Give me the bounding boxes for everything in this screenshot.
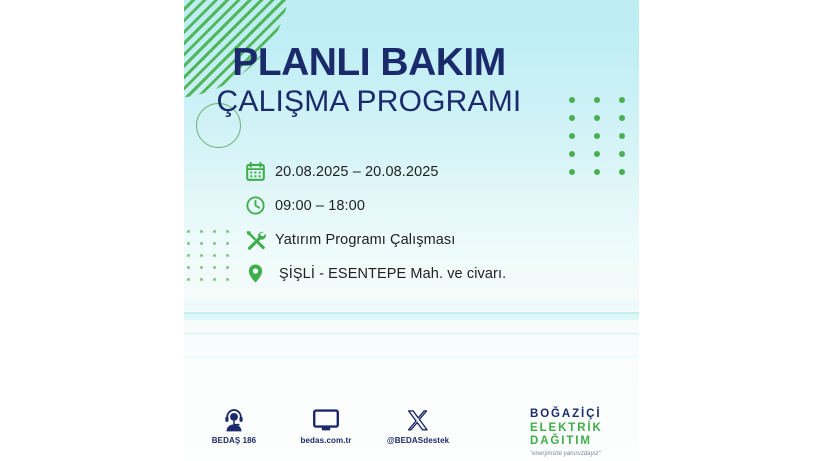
logo-line-bogazici: BOĞAZİÇİ (530, 408, 639, 422)
screenshot-canvas: PLANLI BAKIM ÇALIŞMA PROGRAMI (0, 0, 820, 461)
footer-contacts: BEDAŞ 186 bedas.com.tr @BEDASdestek (200, 406, 452, 445)
background-band (184, 300, 639, 310)
background-band (184, 312, 639, 314)
background-band (184, 355, 639, 359)
planned-maintenance-poster: PLANLI BAKIM ÇALIŞMA PROGRAMI (184, 0, 639, 461)
detail-date-text: 20.08.2025 – 20.08.2025 (275, 164, 439, 180)
detail-row-worktype: Yatırım Programı Çalışması (245, 223, 625, 256)
tools-icon (245, 227, 275, 253)
logo-line-elektrik: ELEKTRİK (530, 422, 639, 436)
contact-x-social[interactable]: @BEDASdestek (384, 406, 452, 445)
x-twitter-icon (407, 406, 429, 432)
contact-call-center-label: BEDAŞ 186 (212, 436, 256, 445)
monitor-icon (313, 406, 339, 432)
calendar-icon (245, 159, 275, 185)
contact-call-center[interactable]: BEDAŞ 186 (200, 406, 268, 445)
title-subtitle: ÇALIŞMA PROGRAMI (184, 86, 554, 118)
bedas-logo: BOĞAZİÇİ ELEKTRİK DAĞITIM "enerjimizle y… (530, 408, 639, 457)
contact-website[interactable]: bedas.com.tr (292, 406, 360, 445)
title-main: PLANLI BAKIM (184, 43, 554, 82)
detail-location-text: ŞİŞLİ - ESENTEPE Mah. ve civarı. (275, 266, 506, 282)
detail-time-text: 09:00 – 18:00 (275, 198, 365, 214)
logo-line-dagitim: DAĞITIM (530, 435, 639, 449)
detail-row-time: 09:00 – 18:00 (245, 189, 625, 222)
location-pin-icon (245, 261, 275, 287)
background-band (184, 332, 639, 335)
contact-website-label: bedas.com.tr (301, 436, 352, 445)
page-title: PLANLI BAKIM ÇALIŞMA PROGRAMI (184, 43, 554, 118)
contact-x-social-label: @BEDASdestek (387, 436, 449, 445)
support-agent-icon (223, 406, 245, 432)
dot-grid-decoration-left (187, 230, 239, 290)
detail-row-location: ŞİŞLİ - ESENTEPE Mah. ve civarı. (245, 257, 625, 290)
outage-details-list: 20.08.2025 – 20.08.2025 09:00 – 18:00 (245, 155, 625, 291)
background-band (184, 314, 639, 320)
detail-row-date: 20.08.2025 – 20.08.2025 (245, 155, 625, 188)
logo-tagline: "enerjimizle yanınızdayız" (530, 451, 639, 457)
clock-icon (245, 193, 275, 219)
detail-worktype-text: Yatırım Programı Çalışması (275, 232, 455, 248)
